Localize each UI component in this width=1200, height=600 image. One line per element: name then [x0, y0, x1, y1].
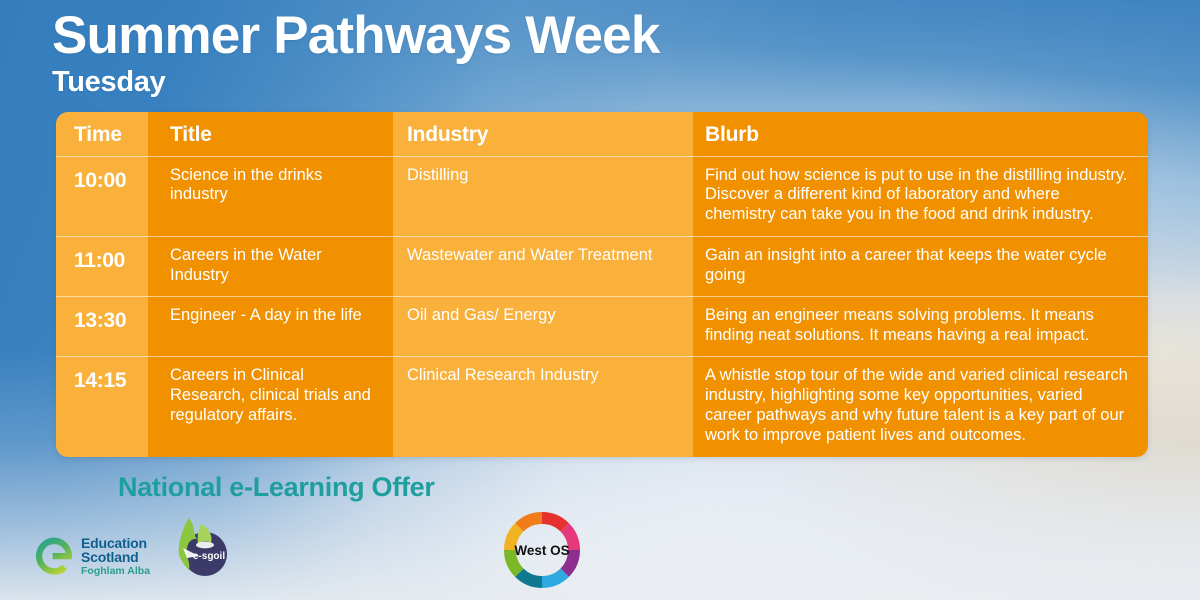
partner-logo-strip: Education Scotland Foghlam Alba e-sgoil … [0, 500, 1200, 600]
logo-west-os: West OS [500, 508, 584, 592]
cell-time: 13:30 [56, 297, 148, 357]
schedule-table: Time Title Industry Blurb 10:00 Science … [56, 112, 1148, 457]
cell-blurb: Find out how science is put to use in th… [693, 156, 1148, 236]
schedule-table-container: Time Title Industry Blurb 10:00 Science … [56, 112, 1148, 457]
column-header-time: Time [56, 112, 148, 156]
edscot-line1: Education [81, 536, 150, 550]
page-title: Summer Pathways Week [52, 8, 660, 64]
table-row: 11:00 Careers in the Water Industry Wast… [56, 236, 1148, 296]
cell-time: 14:15 [56, 357, 148, 457]
table-body: 10:00 Science in the drinks industry Dis… [56, 156, 1148, 457]
edscot-line3: Foghlam Alba [81, 566, 150, 577]
cell-title: Engineer - A day in the life [148, 297, 393, 357]
education-scotland-wordmark: Education Scotland Foghlam Alba [81, 536, 150, 577]
cell-time: 11:00 [56, 236, 148, 296]
esgoil-label: e-sgoil [193, 551, 225, 562]
cell-blurb: Being an engineer means solving problems… [693, 297, 1148, 357]
cell-blurb: A whistle stop tour of the wide and vari… [693, 357, 1148, 457]
day-subtitle: Tuesday [52, 66, 660, 99]
column-header-blurb: Blurb [693, 112, 1148, 156]
cell-industry: Wastewater and Water Treatment [393, 236, 693, 296]
table-header-row: Time Title Industry Blurb [56, 112, 1148, 156]
cell-title: Careers in the Water Industry [148, 236, 393, 296]
table-row: 10:00 Science in the drinks industry Dis… [56, 156, 1148, 236]
table-row: 14:15 Careers in Clinical Research, clin… [56, 357, 1148, 457]
edscot-line2: Scotland [81, 550, 150, 564]
cell-time: 10:00 [56, 156, 148, 236]
header-block: Summer Pathways Week Tuesday [52, 8, 660, 99]
poster-canvas: Summer Pathways Week Tuesday Time Title … [0, 0, 1200, 600]
table-row: 13:30 Engineer - A day in the life Oil a… [56, 297, 1148, 357]
logo-esgoil: e-sgoil [163, 512, 235, 584]
cell-industry: Clinical Research Industry [393, 357, 693, 457]
cell-title: Science in the drinks industry [148, 156, 393, 236]
west-os-label: West OS [514, 543, 569, 558]
column-header-industry: Industry [393, 112, 693, 156]
table-header: Time Title Industry Blurb [56, 112, 1148, 156]
cell-blurb: Gain an insight into a career that keeps… [693, 236, 1148, 296]
education-scotland-icon [34, 536, 74, 576]
elearning-strapline: National e-Learning Offer [118, 472, 435, 503]
cell-title: Careers in Clinical Research, clinical t… [148, 357, 393, 457]
logo-education-scotland: Education Scotland Foghlam Alba [34, 536, 150, 577]
column-header-title: Title [148, 112, 393, 156]
cell-industry: Distilling [393, 156, 693, 236]
cell-industry: Oil and Gas/ Energy [393, 297, 693, 357]
